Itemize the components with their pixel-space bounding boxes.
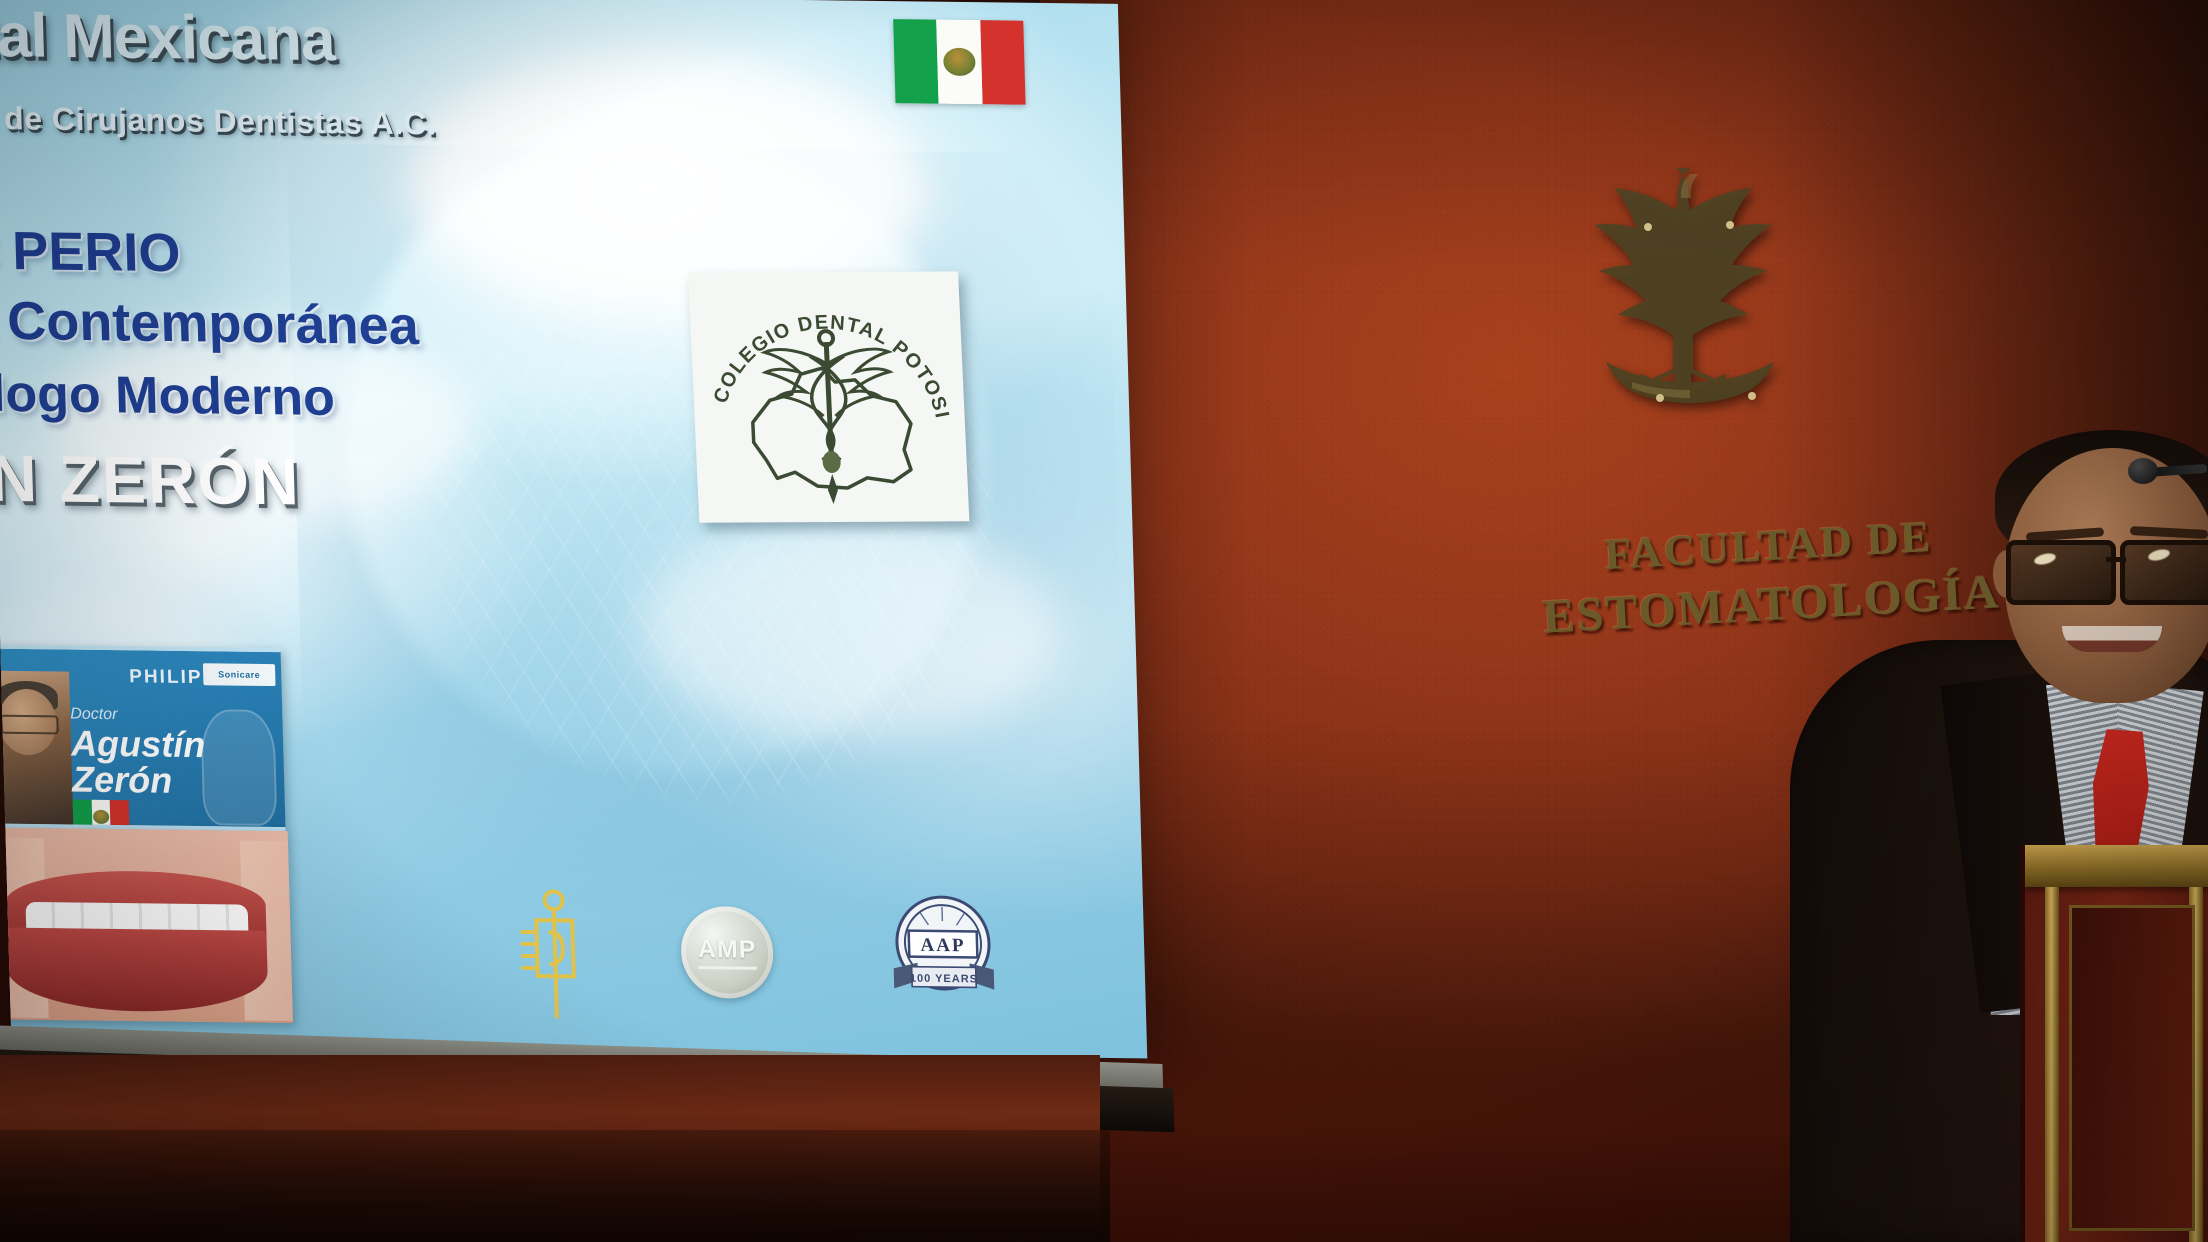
smile-photo <box>0 828 293 1023</box>
wooden-podium <box>2020 845 2208 1242</box>
philips-role-label: Doctor <box>70 706 118 725</box>
slide-title: Dental Mexicana <box>0 0 665 79</box>
slide-heading-1: BC PERIO <box>0 219 181 284</box>
colegio-dental-potosino-logo: COLEGIO DENTAL POTOSINO A.C. <box>688 271 969 522</box>
sonicare-logo: Sonicare <box>203 663 276 686</box>
slide-speaker-name: STÍN ZERÓN <box>0 438 302 519</box>
amp-label: AMP <box>697 935 757 970</box>
philips-portrait <box>0 671 73 825</box>
philips-mexican-flag-icon <box>73 800 130 832</box>
gold-emblem-logo <box>517 886 593 1027</box>
speaker-mouth <box>2062 626 2162 652</box>
projection-screen-area: Dental Mexicana Colegios de Cirujanos De… <box>0 0 1174 1134</box>
floor-shadow <box>0 1130 1110 1242</box>
microphone <box>2128 458 2158 484</box>
mexican-flag-icon <box>893 19 1025 105</box>
podium-panel <box>2069 905 2195 1231</box>
slide-heading-3: ontólogo Moderno <box>0 362 336 428</box>
podium-column-left <box>2045 887 2059 1242</box>
philips-name-line-2: Zerón <box>72 762 207 800</box>
toothbrush-icon <box>200 709 277 826</box>
amp-seal-logo: AMP <box>680 906 775 999</box>
flag-seal-icon <box>943 48 976 76</box>
glasses-icon <box>1998 540 2208 602</box>
slide-heading-2: ogía Contemporánea <box>0 289 419 358</box>
sonicare-label: Sonicare <box>203 663 276 686</box>
svg-text:COLEGIO DENTAL POTOSINO A.C.: COLEGIO DENTAL POTOSINO A.C. <box>688 271 953 422</box>
svg-text:AAP: AAP <box>920 935 966 957</box>
bronze-eagle-emblem <box>1540 150 1840 410</box>
photo-scene: FACULTAD DE ESTOMATOLOGÍA <box>0 0 2208 1242</box>
philips-name-line-1: Agustín <box>71 726 206 764</box>
projection-screen: Dental Mexicana Colegios de Cirujanos De… <box>0 0 1147 1058</box>
philips-banner: PHILIPS Sonicare Doctor Agustín Zerón <box>0 645 286 831</box>
aap-badge-logo: AAP 100 YEARS <box>885 890 1000 1011</box>
podium-trim <box>2025 845 2208 887</box>
aap-ribbon-label: 100 YEARS <box>910 973 978 986</box>
